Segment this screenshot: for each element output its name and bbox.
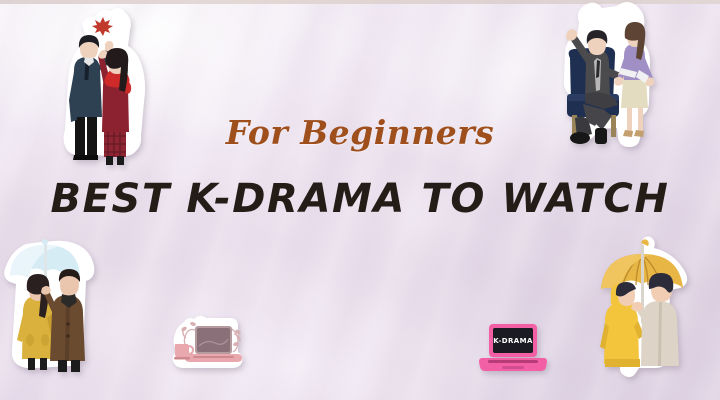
poster-headline: BEST K-DRAMA TO WATCH [0,176,720,222]
couple-yellow-umbrella-sticker [585,233,709,379]
kdrama-laptop-sticker: K-DRAMA [480,322,546,374]
kdrama-poster: K-DRAMA For Beginners BEST K-DRAMA TO WA… [0,0,720,400]
laptop-body [479,324,547,371]
poster-kicker: For Beginners [0,113,720,152]
couple-blue-umbrella-sticker [0,228,112,374]
pink-laptop-coffee-sticker [168,314,246,376]
laptop-screen-text: K-DRAMA [493,337,533,345]
